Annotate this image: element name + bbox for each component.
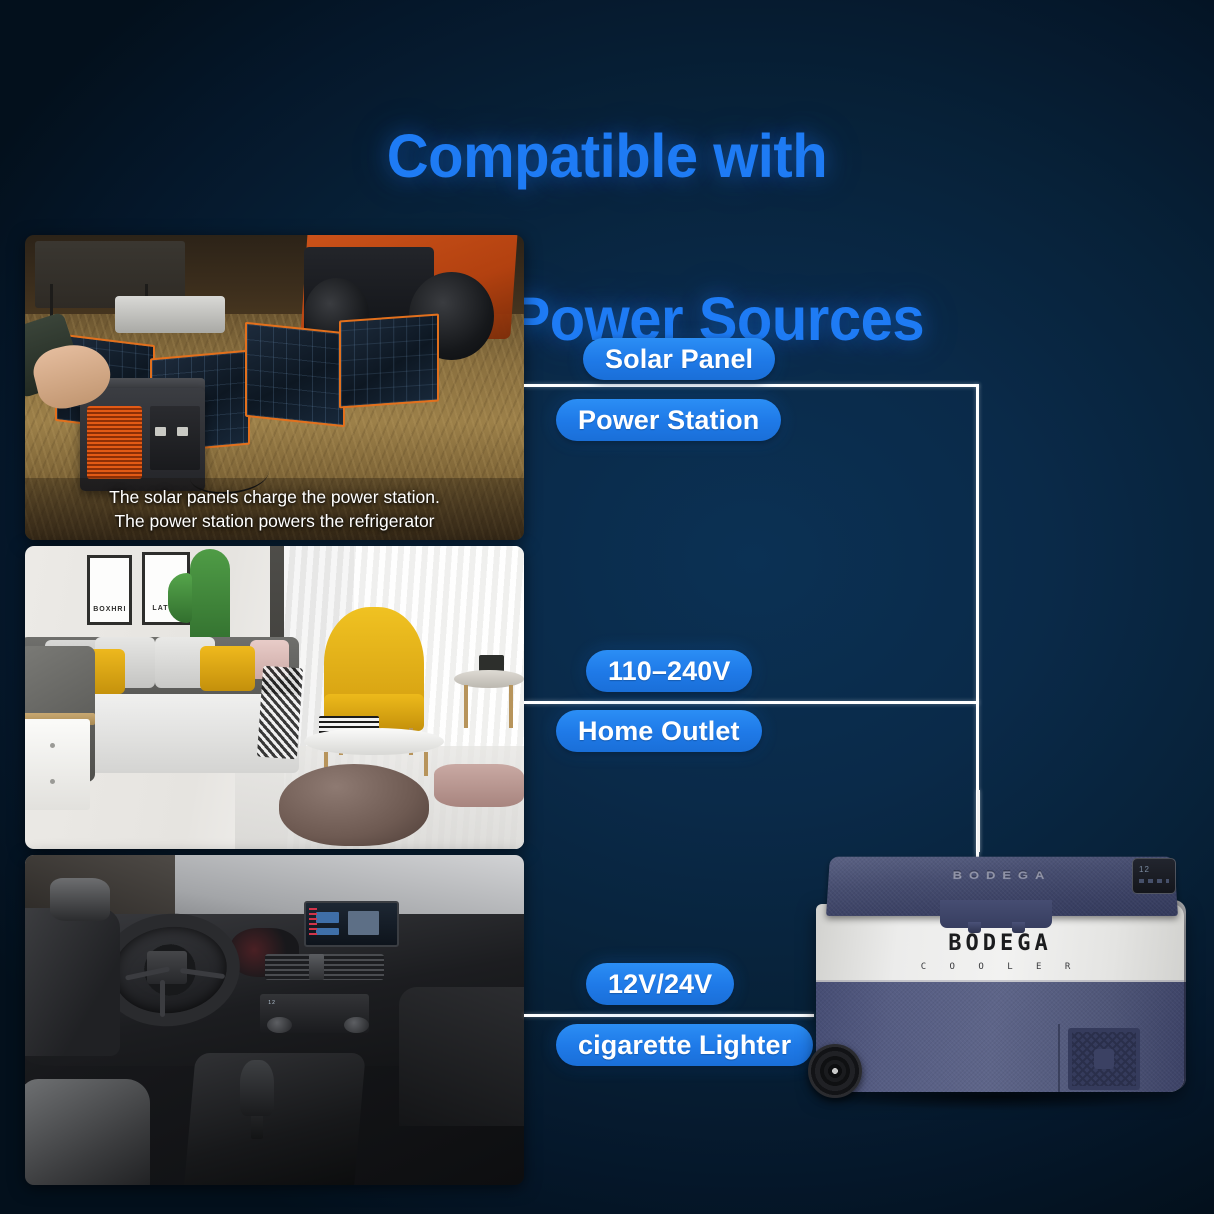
driver-seat [25,1079,150,1185]
connector-line-car [524,1014,814,1017]
yellow-cushion [200,646,255,691]
vent-grille-icon [1068,1028,1140,1090]
control-panel[interactable]: 12 [1132,858,1176,894]
wall-art-frame: BOXHRI [87,555,132,625]
pill-voltage-12-24[interactable]: 12V/24V [586,963,734,1005]
side-table-leg [509,685,513,727]
coffee-table [304,728,444,755]
cabinet-knob [50,743,55,748]
brand-mark: BODEGA C O O L E R [800,933,1200,972]
cooler-wheel [808,1044,862,1098]
grey-case [115,296,225,333]
solar-panel-segment [245,321,345,426]
panel-divider [1058,1024,1060,1092]
photo-solar-panel: The solar panels charge the power statio… [25,235,524,540]
control-panel-buttons[interactable] [1139,879,1169,883]
throw-blanket [256,666,302,759]
cluster-indicator-strip [309,908,316,938]
gear-shifter-knob [240,1060,275,1116]
connector-line-home [524,701,979,704]
table-leg [424,752,428,776]
connector-line-solar [524,384,979,387]
side-mirror [50,878,110,921]
body-seam [816,980,1184,982]
round-pouf [279,764,429,846]
power-cord [977,790,980,852]
product-cooler: BODEGA C O O L E R BODEGA 12 [800,848,1200,1138]
side-cabinet [25,719,90,810]
latch-tab[interactable] [968,922,981,933]
latch-tab[interactable] [1012,922,1025,933]
power-station-vent [87,406,142,479]
car-interior-artwork: 12 [25,855,524,1185]
living-room-artwork: BOXHRI LATTE [25,546,524,849]
vent-center [1094,1049,1114,1069]
air-vents [265,954,385,980]
screen-tile [316,912,340,923]
photo-living-room: BOXHRI LATTE [25,546,524,849]
page-title-line1: Compatible with [30,116,1183,198]
screen-tile [316,928,340,936]
caption-line-1: The solar panels charge the power statio… [109,486,440,508]
infographic-canvas: Compatible with Various Power Sources [0,0,1214,1214]
control-panel-display: 12 [1139,865,1150,874]
outlet-socket [177,427,188,436]
outlet-socket [155,427,166,436]
center-console [184,1053,365,1185]
infotainment-screen [304,901,399,947]
steering-spoke [160,980,165,1016]
photo-car-interior: 12 [25,855,524,1185]
photo-caption: The solar panels charge the power statio… [25,478,524,540]
caption-line-2: The power station powers the refrigerato… [114,510,434,532]
wall-art-caption: BOXHRI [90,606,129,613]
pill-solar-panel[interactable]: Solar Panel [583,338,775,380]
pill-power-station[interactable]: Power Station [556,399,781,441]
floor-cushion [434,764,524,806]
brand-name: BODEGA [800,933,1200,955]
brand-subtitle: C O O L E R [800,962,1200,972]
hvac-knob [267,1017,292,1034]
lid-embossed-logo: BODEGA [828,868,1175,880]
solar-panel-segment [339,314,439,409]
screen-tile [348,911,379,935]
hvac-display: 12 [268,1000,276,1006]
vent-control-knob [309,954,324,980]
driver-door-panel [25,908,120,1057]
passenger-door-panel [399,987,524,1126]
pill-cigarette-lighter[interactable]: cigarette Lighter [556,1024,813,1066]
pill-home-outlet[interactable]: Home Outlet [556,710,762,752]
lid-latch[interactable] [940,900,1052,928]
pill-voltage-110-240[interactable]: 110–240V [586,650,752,692]
solar-scene-artwork: The solar panels charge the power statio… [25,235,524,540]
side-table-leg [464,685,468,727]
